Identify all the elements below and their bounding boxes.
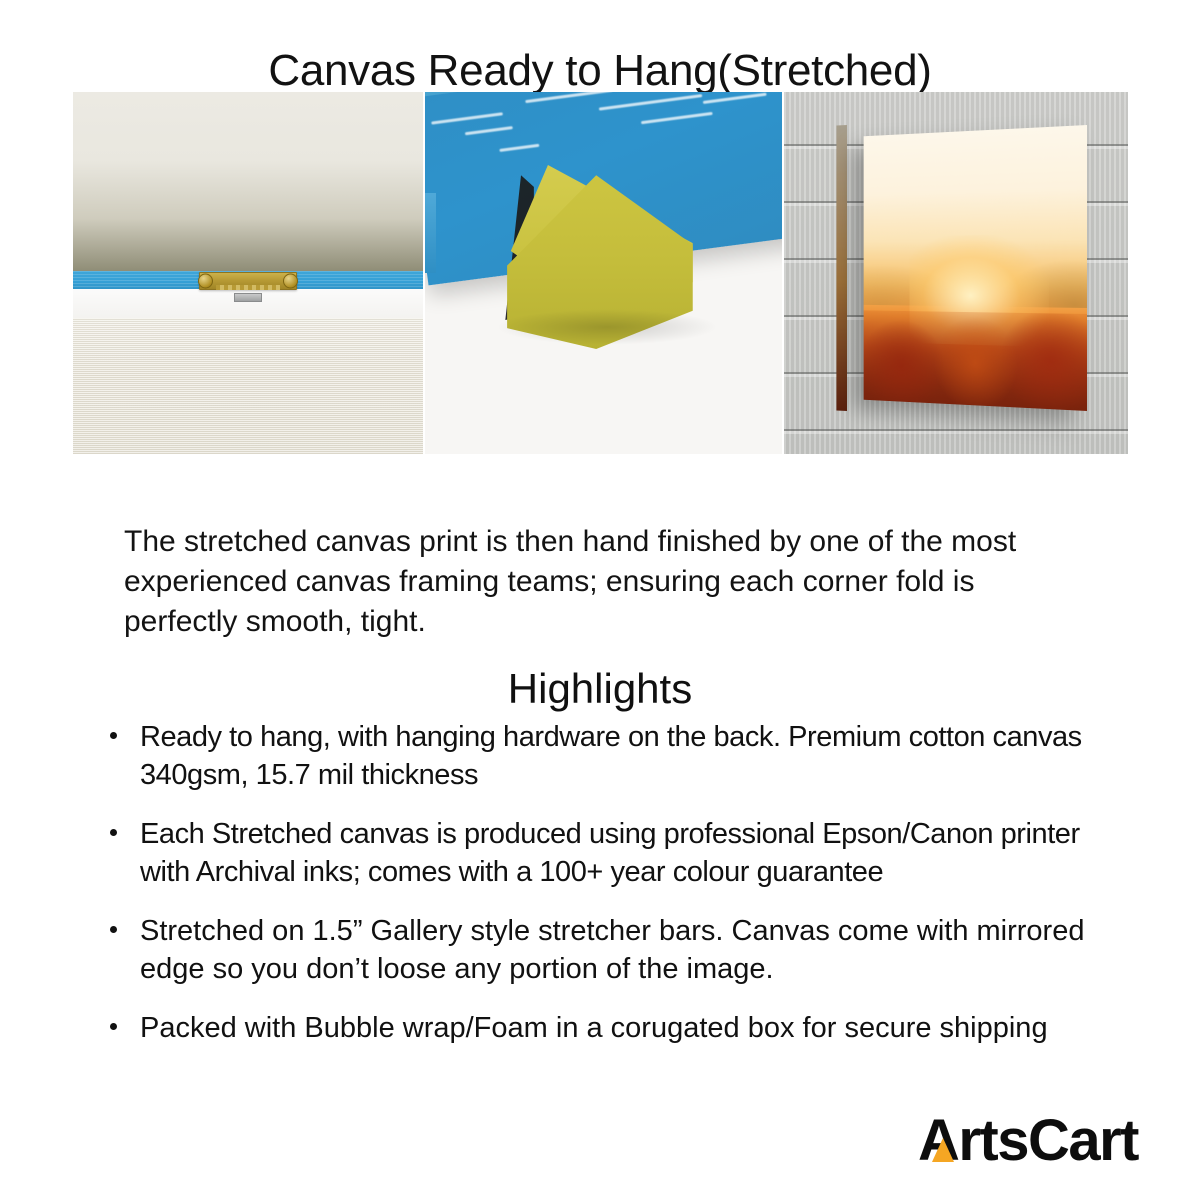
product-photo-strip bbox=[73, 92, 1128, 454]
product-info-page: Canvas Ready to Hang(Stretched) bbox=[0, 0, 1200, 1200]
bullet-icon bbox=[110, 926, 117, 933]
bullet-icon bbox=[110, 732, 117, 739]
list-item: Ready to hang, with hanging hardware on … bbox=[104, 718, 1114, 794]
highlights-list: Ready to hang, with hanging hardware on … bbox=[104, 718, 1114, 1068]
photo-canvas-back-hanger bbox=[73, 92, 423, 454]
bullet-icon bbox=[110, 1023, 117, 1030]
canvas-back-gradient bbox=[73, 92, 423, 273]
highlights-heading: Highlights bbox=[0, 663, 1200, 715]
list-item: Each Stretched canvas is produced using … bbox=[104, 815, 1114, 891]
list-item: Stretched on 1.5” Gallery style stretche… bbox=[104, 912, 1114, 988]
hanger-screw-left-icon bbox=[198, 274, 213, 289]
page-title: Canvas Ready to Hang(Stretched) bbox=[0, 45, 1200, 97]
list-item-text: Ready to hang, with hanging hardware on … bbox=[140, 721, 1082, 791]
list-item-text: Each Stretched canvas is produced using … bbox=[140, 818, 1080, 888]
list-item-text: Packed with Bubble wrap/Foam in a coruga… bbox=[140, 1012, 1048, 1044]
hanger-metal-tab bbox=[234, 293, 262, 302]
photo-corner-fold bbox=[425, 92, 782, 454]
canvas-depth-edge bbox=[836, 125, 847, 411]
brand-logo: ArtsCart bbox=[918, 1110, 1138, 1172]
drop-shadow bbox=[496, 309, 717, 345]
list-item-text: Stretched on 1.5” Gallery style stretche… bbox=[140, 915, 1084, 985]
intro-paragraph: The stretched canvas print is then hand … bbox=[124, 522, 1072, 642]
list-item: Packed with Bubble wrap/Foam in a coruga… bbox=[104, 1009, 1114, 1047]
artwork-foreground bbox=[863, 310, 1086, 411]
sawtooth-hanger-icon bbox=[199, 272, 297, 290]
hanger-screw-right-icon bbox=[283, 274, 298, 289]
hanging-canvas-frame bbox=[863, 125, 1086, 411]
bullet-icon bbox=[110, 829, 117, 836]
canvas-cotton-surface bbox=[73, 318, 423, 454]
triangle-icon bbox=[932, 1138, 954, 1162]
canvas-left-edge bbox=[425, 193, 436, 273]
photo-hanging-on-wall bbox=[784, 92, 1128, 454]
